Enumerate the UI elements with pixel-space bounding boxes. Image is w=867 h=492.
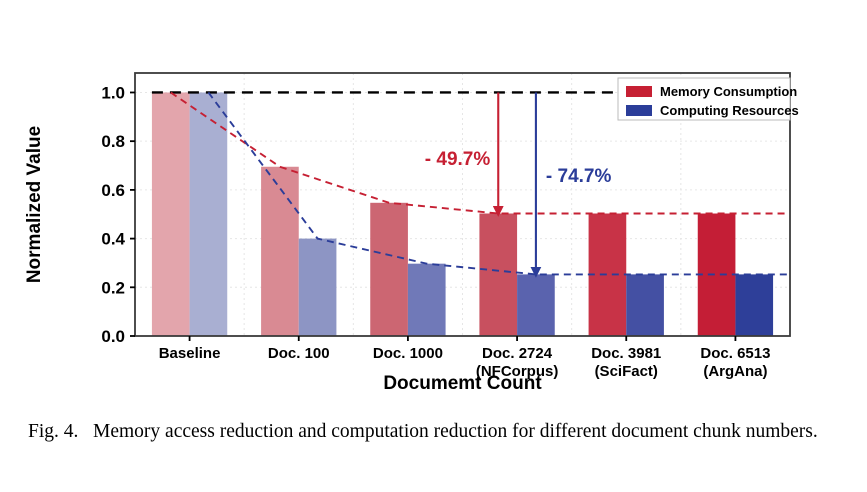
y-tick-label: 0.2 (101, 278, 125, 297)
legend-label-computing-resources: Computing Resources (660, 103, 799, 118)
caption-text: Memory access reduction and computation … (93, 421, 818, 442)
annotation-memory-reduction: - 49.7% (425, 149, 491, 170)
bar-computing-resources (626, 274, 664, 336)
x-tick-label: Doc. 1000 (373, 345, 443, 362)
x-tick-label: Doc. 3981 (591, 345, 661, 362)
x-tick-label: Doc. 100 (268, 345, 330, 362)
y-tick-label: 0.8 (101, 132, 125, 151)
y-tick-label: 0.6 (101, 181, 125, 200)
bar-computing-resources (517, 274, 555, 336)
annotation-compute-reduction: - 74.7% (546, 166, 612, 187)
y-axis-title: Normalized Value (24, 126, 45, 283)
caption-label: Fig. 4. (28, 421, 78, 442)
legend-swatch-computing-resources (626, 105, 652, 116)
bar-computing-resources (408, 264, 446, 336)
figure-caption: Fig. 4. Memory access reduction and comp… (28, 418, 840, 446)
bar-memory-consumption (261, 167, 299, 336)
bar-computing-resources (299, 239, 337, 336)
y-tick-label: 1.0 (101, 83, 125, 102)
x-tick-label: Doc. 6513 (700, 345, 770, 362)
figure-chart: - 49.7%- 74.7%0.00.20.40.60.81.0Baseline… (0, 0, 867, 400)
x-axis-title: Documemt Count (383, 373, 542, 394)
bar-memory-consumption (479, 214, 517, 336)
bar-memory-consumption (370, 203, 408, 336)
bar-computing-resources (735, 274, 773, 336)
x-tick-label-second-line: (ArgAna) (703, 363, 767, 380)
caption-spacer (83, 421, 93, 442)
legend-swatch-memory-consumption (626, 86, 652, 97)
bar-memory-consumption (152, 92, 190, 336)
bar-memory-consumption (698, 214, 736, 336)
chart-background (0, 0, 867, 400)
x-tick-label: Doc. 2724 (482, 345, 553, 362)
y-tick-label: 0.0 (101, 327, 125, 346)
bar-computing-resources (190, 92, 228, 336)
x-tick-label-second-line: (SciFact) (595, 363, 658, 380)
legend-label-memory-consumption: Memory Consumption (660, 84, 797, 99)
x-tick-label: Baseline (159, 345, 221, 362)
y-tick-label: 0.4 (101, 230, 125, 249)
